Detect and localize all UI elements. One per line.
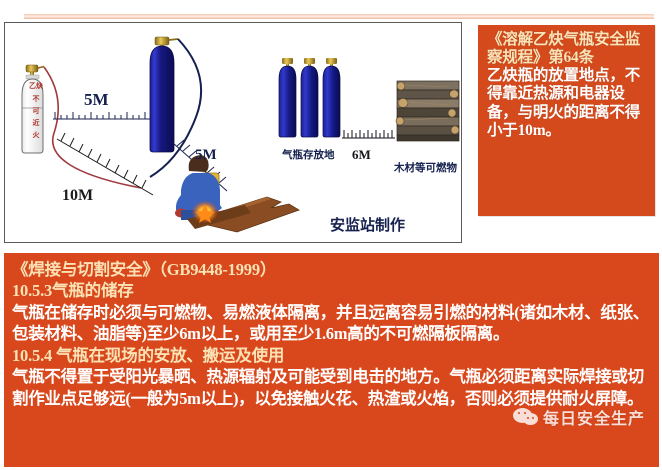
label-illustration-credit: 安监站制作	[330, 214, 405, 235]
regulation-callout-box: 《溶解乙炔气瓶安全监察规程》第64条 乙炔瓶的放置地点，不得靠近热源和电器设备，…	[478, 25, 655, 216]
label-distance-5m-right: 5M	[195, 147, 217, 164]
top-divider-rule	[24, 14, 654, 19]
clause-2-heading: 10.5.4 气瓶在现场的安放、搬运及使用	[12, 345, 653, 366]
callout-title: 《溶解乙炔气瓶安全监察规程》第64条	[487, 31, 648, 67]
callout-body: 乙炔瓶的放置地点，不得靠近热源和电器设备，与明火的距离不得小于10m。	[487, 67, 648, 140]
safety-illustration-panel: 乙炔 不 可 近 火 5M 5M 10M 6M 气瓶存放地 木材等可燃物 安监站…	[4, 22, 462, 243]
label-distance-10m: 10M	[62, 187, 93, 205]
acetylene-cylinder-text-line5: 火	[30, 132, 42, 139]
regulation-text-block: 《焊接与切割安全》（GB9448-1999） 10.5.3气瓶的储存 气瓶在储存…	[4, 253, 659, 467]
oxygen-cylinder-icon	[150, 37, 178, 152]
clause-1-text: 气瓶在储存时必须与可燃物、易燃液体隔离，并且远离容易引燃的材料(诸如木材、纸张、…	[12, 302, 653, 345]
acetylene-cylinder-text-line1: 乙炔	[27, 83, 45, 90]
page-root: 乙炔 不 可 近 火 5M 5M 10M 6M 气瓶存放地 木材等可燃物 安监站…	[0, 0, 662, 470]
clause-1-heading: 10.5.3气瓶的储存	[12, 280, 653, 301]
wood-pile-icon	[396, 81, 459, 141]
ruler-10m-diagonal	[57, 133, 153, 195]
acetylene-cylinder-text-line3: 可	[30, 108, 42, 115]
ruler-5m-horizontal	[53, 112, 151, 119]
wechat-icon	[513, 408, 539, 427]
ruler-6m-horizontal	[342, 130, 395, 138]
cylinder-storage-group	[279, 58, 340, 137]
clause-2-text: 气瓶不得置于受阳光暴晒、热源辐射及可能受到电击的地方。气瓶必须距离实际焊接或切割…	[12, 366, 653, 409]
label-distance-6m: 6M	[352, 147, 371, 163]
illustration-svg	[5, 23, 460, 241]
label-combustibles: 木材等可燃物	[394, 160, 457, 175]
standard-title: 《焊接与切割安全》（GB9448-1999）	[12, 259, 653, 280]
label-distance-5m-top: 5M	[84, 90, 109, 110]
acetylene-cylinder-text-line2: 不	[30, 96, 42, 103]
illustration-canvas: 乙炔 不 可 近 火 5M 5M 10M 6M 气瓶存放地 木材等可燃物 安监站…	[5, 23, 461, 242]
label-cylinder-storage: 气瓶存放地	[282, 147, 335, 162]
acetylene-cylinder-text-line4: 近	[30, 120, 42, 127]
